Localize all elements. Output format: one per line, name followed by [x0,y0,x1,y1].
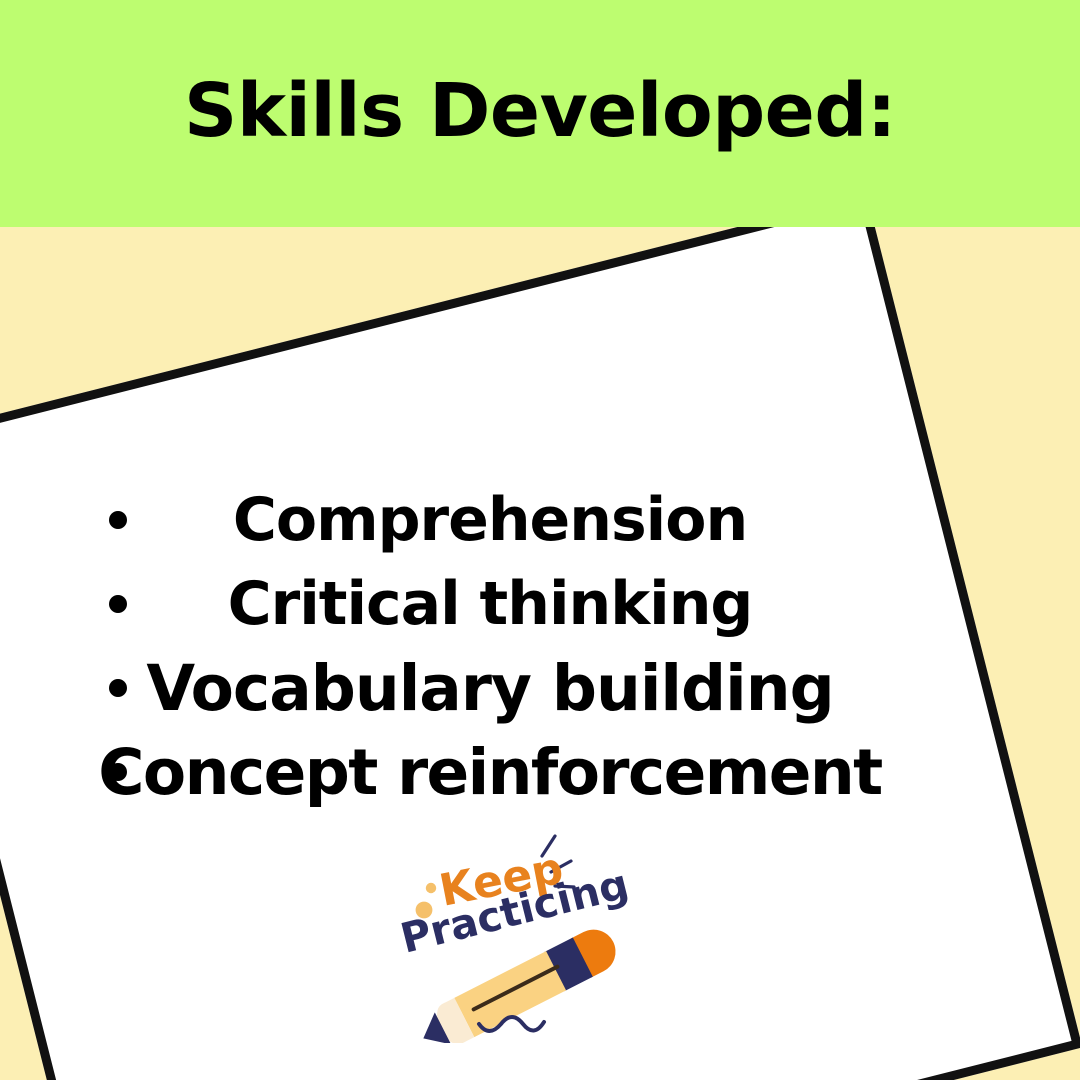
poster-canvas: Skills Developed: Comprehension Critical… [0,0,1080,1080]
header-band: Skills Developed: [0,0,1080,227]
list-item: Comprehension [60,478,920,562]
bullet-dot-icon [109,511,127,529]
keep-practicing-logo: Keep Practicing [395,828,645,1043]
skills-list: Comprehension Critical thinking Vocabula… [60,478,920,814]
list-item: Critical thinking [60,562,920,646]
list-item: Vocabulary building [60,646,920,730]
page-title: Skills Developed: [0,0,1080,227]
bullet-dot-icon [109,595,127,613]
list-item: Concept reinforcement [60,730,920,814]
skill-label: Concept reinforcement [98,741,881,804]
skill-label: Comprehension [233,490,747,550]
skill-label: Vocabulary building [146,657,833,720]
bullet-dot-icon [109,679,127,697]
bullet-dot-icon [109,763,127,781]
skill-label: Critical thinking [228,574,753,634]
